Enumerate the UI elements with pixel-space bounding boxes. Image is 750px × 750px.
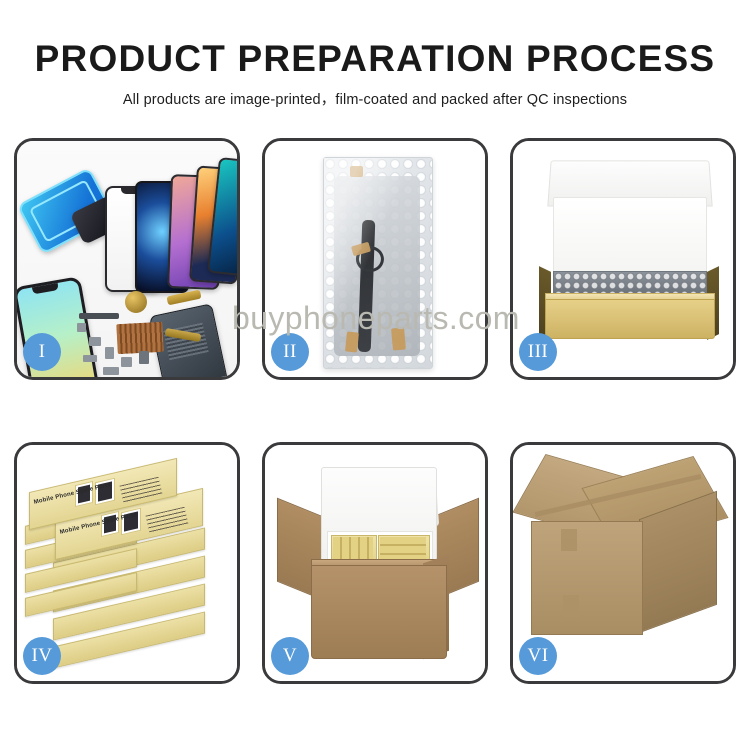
- box-front-panel: [545, 299, 715, 339]
- box-stack: Mobile Phone Spare Parts Mobile Phone Sp…: [23, 469, 235, 663]
- chip-component-1: [89, 337, 101, 346]
- chip-component-2: [105, 347, 114, 359]
- process-step-2[interactable]: II: [262, 138, 488, 380]
- chip-component-3: [83, 355, 97, 362]
- chip-component-5: [139, 351, 149, 364]
- box-label-window-a2: [95, 478, 115, 506]
- process-step-6[interactable]: VI: [510, 442, 736, 684]
- process-step-3[interactable]: III: [510, 138, 736, 380]
- process-step-4[interactable]: Mobile Phone Spare Parts Mobile Phone Sp…: [14, 442, 240, 684]
- step-badge-4: IV: [23, 637, 61, 675]
- bubble-wrap-sleeve: [323, 157, 433, 369]
- plastic-gloss-highlight: [324, 158, 432, 368]
- flex-cable-component: [79, 313, 119, 319]
- carton-tape-upper: [561, 529, 577, 551]
- page-title: PRODUCT PREPARATION PROCESS: [0, 0, 750, 79]
- chip-component-7: [77, 323, 86, 332]
- carton-front-face: [531, 521, 643, 635]
- step-badge-2: II: [271, 333, 309, 371]
- white-foam-sheet: [553, 197, 707, 277]
- chip-component-6: [103, 367, 119, 375]
- carton-tape-lower: [563, 595, 579, 617]
- logic-board-component: [116, 322, 164, 354]
- process-step-grid: I II: [14, 138, 736, 684]
- process-step-1[interactable]: I: [14, 138, 240, 380]
- header: PRODUCT PREPARATION PROCESS All products…: [0, 0, 750, 109]
- carton-front-panel: [311, 565, 447, 659]
- process-step-5[interactable]: V: [262, 442, 488, 684]
- chip-component-4: [121, 357, 132, 367]
- page-subtitle: All products are image-printed，film-coat…: [0, 79, 750, 109]
- speaker-component: [125, 291, 147, 313]
- step-badge-1: I: [23, 333, 61, 371]
- step-badge-6: VI: [519, 637, 557, 675]
- step-badge-5: V: [271, 637, 309, 675]
- product-preparation-infographic: PRODUCT PREPARATION PROCESS All products…: [0, 0, 750, 750]
- step-badge-3: III: [519, 333, 557, 371]
- box-label-window-b2: [121, 508, 141, 536]
